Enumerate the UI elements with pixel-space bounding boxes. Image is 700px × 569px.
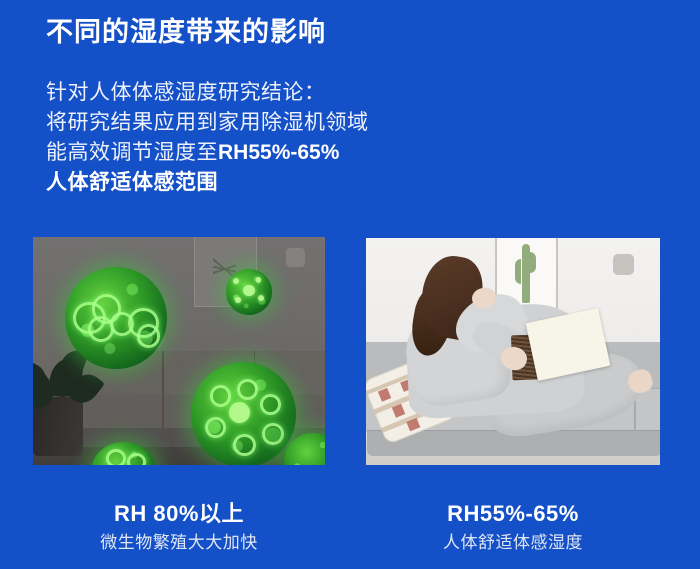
description-line-3: 能高效调节湿度至RH55%-65% — [46, 138, 476, 168]
caption-high-humidity-sub: 微生物繁殖大大加快 — [33, 530, 325, 556]
description-line-4: 人体舒适体感范围 — [46, 168, 476, 198]
germ-large-bottom — [191, 362, 296, 465]
light-room-scene — [366, 238, 660, 465]
germ-spike — [256, 277, 262, 282]
germ-core — [229, 402, 250, 423]
wall-sensor-light — [613, 254, 634, 276]
germ-small-top — [226, 269, 273, 315]
caption-high-humidity-main: RH 80%以上 — [33, 500, 325, 528]
page-title: 不同的湿度带来的影响 — [46, 16, 326, 50]
description-block: 针对人体体感湿度研究结论： 将研究结果应用到家用除湿机领域 能高效调节湿度至RH… — [46, 78, 476, 198]
wall-sensor-dark — [286, 248, 305, 266]
germ-core — [243, 285, 254, 296]
germ-ring — [205, 417, 226, 438]
dark-room-scene — [33, 237, 325, 465]
cactus-illustration — [522, 244, 530, 303]
germ-cluster-large — [65, 267, 167, 370]
caption-comfort-humidity-main: RH55%-65% — [366, 500, 660, 528]
germ-ring — [237, 379, 258, 400]
germ-ring — [137, 324, 160, 347]
photo-comfort-humidity — [366, 238, 660, 465]
description-line-1: 针对人体体感湿度研究结论： — [46, 78, 476, 108]
promo-page: 不同的湿度带来的影响 针对人体体感湿度研究结论： 将研究结果应用到家用除湿机领域… — [0, 0, 700, 569]
humidity-range-inline: RH55%-65% — [218, 141, 339, 164]
germ-ring — [233, 434, 256, 457]
germ-ring — [260, 394, 281, 415]
germ-ring — [262, 423, 284, 445]
description-line-2: 将研究结果应用到家用除湿机领域 — [46, 108, 476, 138]
caption-high-humidity: RH 80%以上 微生物繁殖大大加快 — [33, 500, 325, 556]
germ-ring — [106, 449, 126, 465]
photo-high-humidity — [33, 237, 325, 465]
description-line-3-text: 能高效调节湿度至 — [46, 141, 218, 164]
sofa-seam-dark-1 — [162, 351, 164, 428]
caption-comfort-humidity: RH55%-65% 人体舒适体感湿度 — [366, 500, 660, 556]
caption-comfort-humidity-sub: 人体舒适体感湿度 — [366, 530, 660, 556]
germ-spike — [235, 297, 241, 302]
